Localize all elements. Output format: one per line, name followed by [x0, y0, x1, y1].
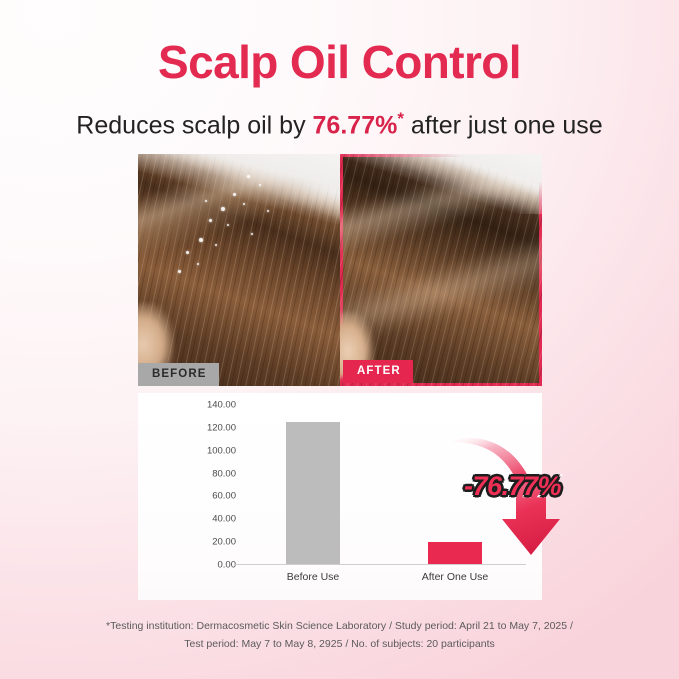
y-tick-label: 140.00: [182, 400, 236, 411]
before-photo: BEFORE: [138, 154, 340, 386]
x-axis-tick-labels: Before Use After One Use: [242, 571, 526, 583]
y-tick-label: 120.00: [182, 422, 236, 433]
x-tick-label-before: Before Use: [242, 571, 384, 583]
page-title: Scalp Oil Control: [0, 36, 679, 88]
y-tick-label: 0.00: [182, 560, 236, 571]
bar-slot-before: [242, 405, 384, 564]
y-tick-label: 100.00: [182, 445, 236, 456]
y-tick-label: 80.00: [182, 468, 236, 479]
footnote: *Testing institution: Dermacosmetic Skin…: [0, 617, 679, 653]
y-tick-label: 40.00: [182, 514, 236, 525]
x-tick-label-after: After One Use: [384, 571, 526, 583]
chart-inner: 140.00 120.00 100.00 80.00 60.00 40.00 2…: [138, 393, 542, 600]
bar-group: [242, 405, 526, 564]
footnote-line-1: *Testing institution: Dermacosmetic Skin…: [0, 617, 679, 635]
before-after-comparison: BEFORE AFTER: [138, 154, 542, 386]
results-bar-chart: 140.00 120.00 100.00 80.00 60.00 40.00 2…: [138, 393, 542, 600]
subtitle-suffix: after just one use: [404, 111, 603, 139]
bar-after-one-use: [428, 542, 482, 564]
before-label-tag: BEFORE: [138, 363, 219, 386]
subtitle-highlight-value: 76.77%: [313, 111, 398, 139]
bar-before-use: [286, 422, 340, 564]
plot-area: -76.77%: [242, 405, 526, 565]
y-tick-label: 60.00: [182, 491, 236, 502]
subtitle: Reduces scalp oil by 76.77%* after just …: [0, 103, 679, 141]
promo-poster: Scalp Oil Control Reduces scalp oil by 7…: [0, 0, 679, 679]
x-axis-line: [234, 564, 526, 565]
subtitle-asterisk: *: [397, 109, 404, 128]
photo-top-fade: [340, 154, 542, 214]
after-label-tag: AFTER: [343, 360, 413, 383]
y-axis-tick-labels: 140.00 120.00 100.00 80.00 60.00 40.00 2…: [182, 405, 236, 565]
after-photo: AFTER: [340, 154, 542, 386]
bar-slot-after: [384, 405, 526, 564]
y-tick-label: 20.00: [182, 537, 236, 548]
footnote-line-2: Test period: May 7 to May 8, 2925 / No. …: [0, 635, 679, 653]
photo-top-fade: [138, 154, 340, 224]
forehead-skin: [138, 303, 174, 373]
subtitle-prefix: Reduces scalp oil by: [76, 111, 312, 139]
